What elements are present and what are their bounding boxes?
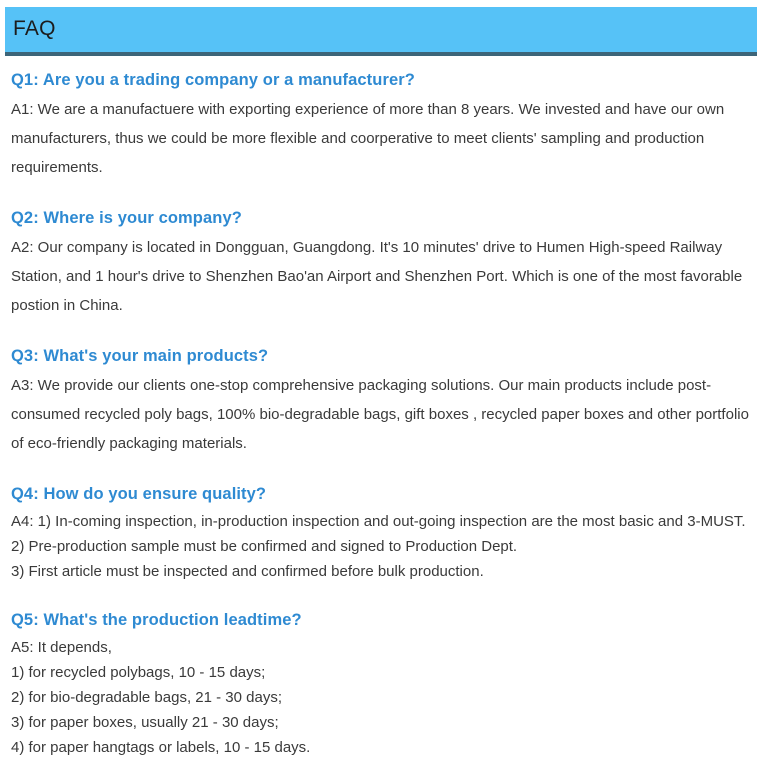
faq-item-q4: Q4: How do you ensure quality? A4: 1) In… [11, 482, 751, 584]
faq-answer-line: A5: It depends, [11, 635, 751, 660]
faq-question-q3: Q3: What's your main products? [11, 344, 751, 368]
faq-item-q3: Q3: What's your main products? A3: We pr… [11, 344, 751, 458]
faq-answer-a4: A4: 1) In-coming inspection, in-producti… [11, 509, 751, 584]
faq-question-q5: Q5: What's the production leadtime? [11, 608, 751, 632]
faq-list: Q1: Are you a trading company or a manuf… [11, 68, 751, 760]
faq-question-q4: Q4: How do you ensure quality? [11, 482, 751, 506]
faq-page: FAQ Q1: Are you a trading company or a m… [0, 0, 765, 748]
faq-banner-title: FAQ [13, 15, 56, 43]
faq-banner: FAQ [5, 7, 757, 56]
faq-item-q1: Q1: Are you a trading company or a manuf… [11, 68, 751, 182]
faq-answer-line: A4: 1) In-coming inspection, in-producti… [11, 509, 751, 534]
faq-answer-line: 3) First article must be inspected and c… [11, 559, 751, 584]
faq-answer-line: 2) Pre-production sample must be confirm… [11, 534, 751, 559]
faq-answer-line: 2) for bio-degradable bags, 21 - 30 days… [11, 685, 751, 710]
faq-question-q2: Q2: Where is your company? [11, 206, 751, 230]
faq-answer-a3: A3: We provide our clients one-stop comp… [11, 371, 751, 458]
faq-answer-a5: A5: It depends, 1) for recycled polybags… [11, 635, 751, 760]
faq-answer-line: 1) for recycled polybags, 10 - 15 days; [11, 660, 751, 685]
faq-answer-a1: A1: We are a manufactuere with exporting… [11, 95, 751, 182]
faq-item-q2: Q2: Where is your company? A2: Our compa… [11, 206, 751, 320]
faq-answer-a2: A2: Our company is located in Dongguan, … [11, 233, 751, 320]
faq-item-q5: Q5: What's the production leadtime? A5: … [11, 608, 751, 760]
faq-answer-line: 3) for paper boxes, usually 21 - 30 days… [11, 710, 751, 735]
faq-question-q1: Q1: Are you a trading company or a manuf… [11, 68, 751, 92]
